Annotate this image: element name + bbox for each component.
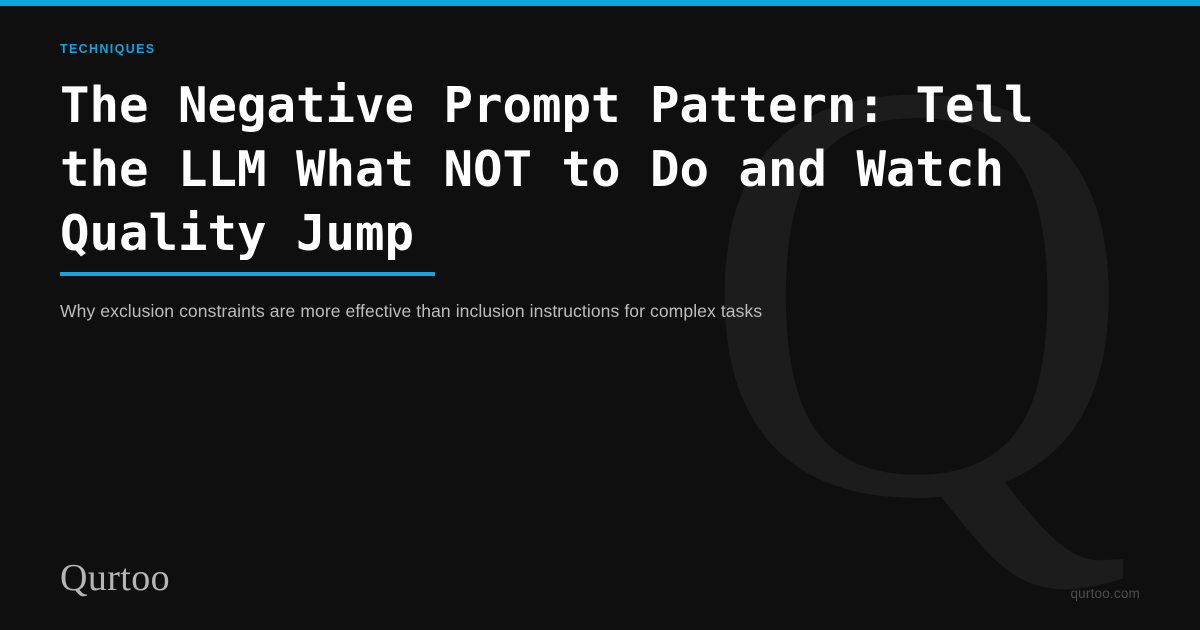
site-domain-label: qurtoo.com	[1070, 585, 1140, 603]
category-eyebrow-label: TECHNIQUES	[60, 42, 155, 56]
page-title: The Negative Prompt Pattern: Tell the LL…	[60, 74, 1070, 266]
card-content: TECHNIQUES The Negative Prompt Pattern: …	[60, 0, 1140, 630]
page-subtitle: Why exclusion constraints are more effec…	[60, 299, 1060, 323]
brand-logo-wordmark: Qurtoo	[60, 556, 170, 600]
social-share-card: Q TECHNIQUES The Negative Prompt Pattern…	[0, 0, 1200, 630]
title-accent-rule	[60, 272, 435, 276]
